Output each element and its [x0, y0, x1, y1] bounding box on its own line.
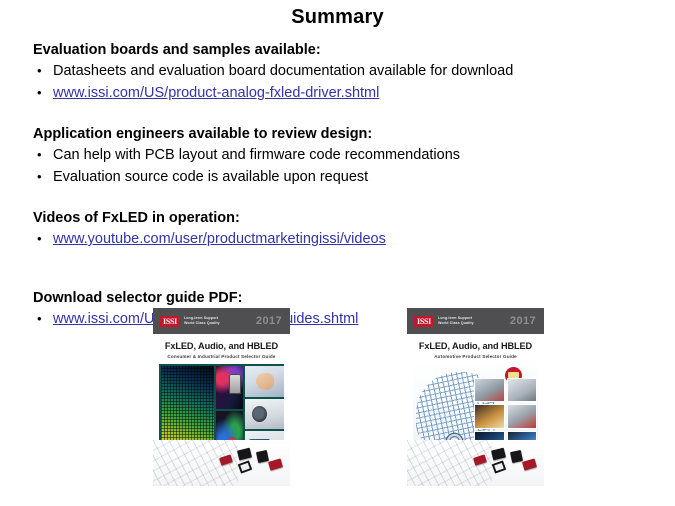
cover-subtitle: Consumer & Industrial Product Selector G…: [157, 354, 286, 359]
spacer: [33, 197, 643, 209]
content-group-download-selector-guide: Download selector guide PDF: • www.issi.…: [33, 289, 643, 330]
page-title: Summary: [0, 6, 675, 29]
list-item-label: Evaluation source code is available upon…: [53, 167, 368, 188]
photo-tail-light: [474, 378, 504, 403]
slide-content: Evaluation boards and samples available:…: [33, 41, 643, 339]
issi-tagline-line1: Long-term Support: [184, 316, 218, 320]
chip-package: [268, 459, 283, 471]
bullet-icon: •: [33, 82, 53, 103]
bullet-icon: •: [33, 308, 53, 329]
chip-package: [522, 459, 537, 471]
group-heading: Download selector guide PDF:: [33, 289, 643, 308]
issi-logo: ISSI: [414, 316, 434, 327]
photo-engine-bay: [507, 404, 537, 429]
bullet-icon: •: [33, 144, 53, 165]
photo-car-exterior: [507, 378, 537, 403]
issi-tagline-line1: Long-term Support: [438, 316, 472, 320]
content-group-application-engineers: Application engineers available to revie…: [33, 125, 643, 188]
content-group-evaluation-boards: Evaluation boards and samples available:…: [33, 41, 643, 104]
photo-appliance-panel: [245, 399, 284, 430]
issi-tagline-line2: World Class Quality: [438, 321, 474, 325]
cover-footer-chips: [153, 440, 290, 486]
cover-title: FxLED, Audio, and HBLED: [411, 341, 540, 352]
list-item: • Can help with PCB layout and firmware …: [33, 144, 643, 166]
cover-header-bar: ISSI Long-term Support World Class Quali…: [407, 308, 544, 334]
cover-subtitle: Automotive Product Selector Guide: [411, 354, 540, 359]
group-heading: Application engineers available to revie…: [33, 125, 643, 144]
bullet-icon: •: [33, 166, 53, 187]
list-item: • www.youtube.com/user/productmarketingi…: [33, 228, 643, 250]
photo-rgb-pc-tower: [216, 366, 243, 409]
cover-title-block: FxLED, Audio, and HBLED Automotive Produ…: [407, 334, 544, 364]
chip-package: [238, 460, 253, 474]
spacer: [33, 113, 643, 125]
list-item-label: Can help with PCB layout and firmware co…: [53, 145, 460, 166]
bullet-icon: •: [33, 228, 53, 249]
issi-tagline: Long-term Support World Class Quality: [184, 316, 220, 325]
cover-footer-chips: [407, 440, 544, 486]
photo-hand-device: [245, 366, 284, 397]
list-item: • Datasheets and evaluation board docume…: [33, 60, 643, 82]
cover-year: 2017: [510, 315, 536, 327]
link-issi-fxled-driver[interactable]: www.issi.com/US/product-analog-fxled-dri…: [53, 83, 379, 104]
cover-title-block: FxLED, Audio, and HBLED Consumer & Indus…: [153, 334, 290, 364]
issi-tagline-line2: World Class Quality: [184, 321, 220, 325]
spacer: [33, 259, 643, 289]
group-heading: Videos of FxLED in operation:: [33, 209, 643, 228]
list-item-label: Datasheets and evaluation board document…: [53, 61, 513, 82]
chip-package: [510, 450, 523, 463]
chip-package: [237, 448, 252, 461]
content-group-videos: Videos of FxLED in operation: • www.yout…: [33, 209, 643, 250]
link-youtube-videos[interactable]: www.youtube.com/user/productmarketingiss…: [53, 229, 386, 250]
cover-title: FxLED, Audio, and HBLED: [157, 341, 286, 352]
group-heading: Evaluation boards and samples available:: [33, 41, 643, 60]
issi-tagline: Long-term Support World Class Quality: [438, 316, 474, 325]
list-item: • www.issi.com/US/product-analog-fxled-d…: [33, 82, 643, 104]
photo-interior-ambient-light: [474, 404, 504, 429]
selector-guide-cover-consumer[interactable]: ISSI Long-term Support World Class Quali…: [153, 308, 290, 486]
list-item: • www.issi.com/US/product-selector-guide…: [33, 308, 643, 330]
chip-package: [492, 460, 507, 474]
selector-guide-cover-automotive[interactable]: ISSI Long-term Support World Class Quali…: [407, 308, 544, 486]
issi-logo: ISSI: [160, 316, 180, 327]
cover-header-bar: ISSI Long-term Support World Class Quali…: [153, 308, 290, 334]
chip-package: [491, 448, 506, 461]
chip-package: [256, 450, 269, 463]
list-item: • Evaluation source code is available up…: [33, 166, 643, 188]
bullet-icon: •: [33, 60, 53, 81]
cover-year: 2017: [256, 315, 282, 327]
